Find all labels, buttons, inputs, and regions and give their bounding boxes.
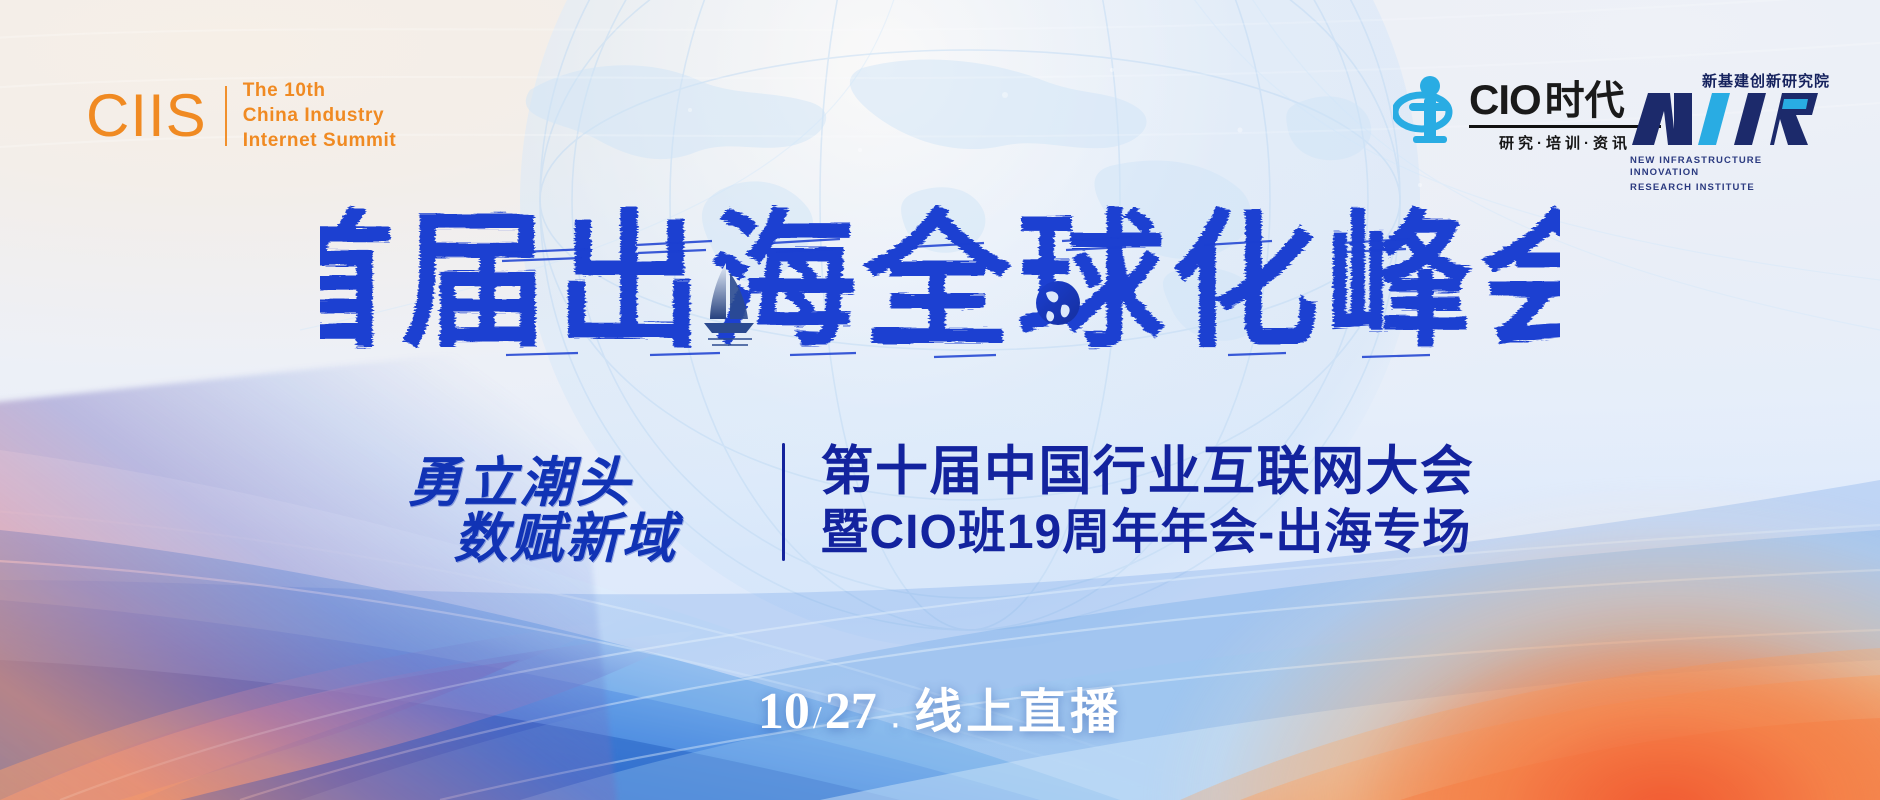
calligraphy-line-2: 数赋新域 xyxy=(454,494,678,573)
event-poster: CIIS The 10th China Industry Internet Su… xyxy=(0,0,1880,800)
date-channel-row: 10/27·线上直播 xyxy=(0,672,1880,746)
cio-era-logo[interactable]: CIO 时代 研究·培训·资讯 xyxy=(1393,72,1661,153)
ciis-subtext-line3: Internet Summit xyxy=(243,128,397,153)
middot-separator: · xyxy=(877,701,914,745)
ciis-subtext: The 10th China Industry Internet Summit xyxy=(243,78,397,153)
main-title-text: 首届出海全球化峰会 xyxy=(320,205,1560,365)
main-title: 首届出海全球化峰会 xyxy=(0,205,1880,375)
main-title-artwork: 首届出海全球化峰会 xyxy=(320,205,1560,373)
cio-chinese: 时代 xyxy=(1545,79,1625,123)
warm-glow-right-core xyxy=(1280,540,1880,800)
date-day: 27 xyxy=(825,683,877,740)
cio-person-icon xyxy=(1393,72,1467,146)
slogan-row: 勇立潮头 数赋新域 第十届中国行业互联网大会 暨CIO班19周年年会-出海专场 xyxy=(0,436,1880,568)
small-globe-icon xyxy=(1036,281,1080,325)
ciis-subtext-line1: The 10th xyxy=(243,78,397,103)
niiri-english-line2: RESEARCH INSTITUTE xyxy=(1630,182,1830,194)
ciis-divider xyxy=(225,86,227,146)
ciis-subtext-line2: China Industry xyxy=(243,103,397,128)
date-separator: / xyxy=(810,699,825,735)
ciis-logo[interactable]: CIIS The 10th China Industry Internet Su… xyxy=(86,78,396,153)
calligraphy-slogan: 勇立潮头 数赋新域 xyxy=(406,436,758,568)
slogan-divider xyxy=(782,443,785,561)
broadcast-channel: 线上直播 xyxy=(914,686,1122,739)
niiri-wordmark-icon xyxy=(1630,89,1830,147)
subtitle-block: 第十届中国行业互联网大会 暨CIO班19周年年会-出海专场 xyxy=(821,441,1475,563)
niiri-english-line1: NEW INFRASTRUCTURE INNOVATION xyxy=(1630,155,1830,179)
subtitle-line-2: 暨CIO班19周年年会-出海专场 xyxy=(821,503,1475,563)
cio-latin: CIO xyxy=(1469,78,1541,122)
niiri-chinese-name: 新基建创新研究院 xyxy=(1630,70,1830,91)
subtitle-line-1: 第十届中国行业互联网大会 xyxy=(821,441,1475,503)
ciis-wordmark: CIIS xyxy=(86,87,207,145)
niiri-logo[interactable]: 新基建创新研究院 NEW INFRASTRUCTURE INNOVATION R… xyxy=(1630,70,1830,194)
date-month: 10 xyxy=(758,683,810,740)
